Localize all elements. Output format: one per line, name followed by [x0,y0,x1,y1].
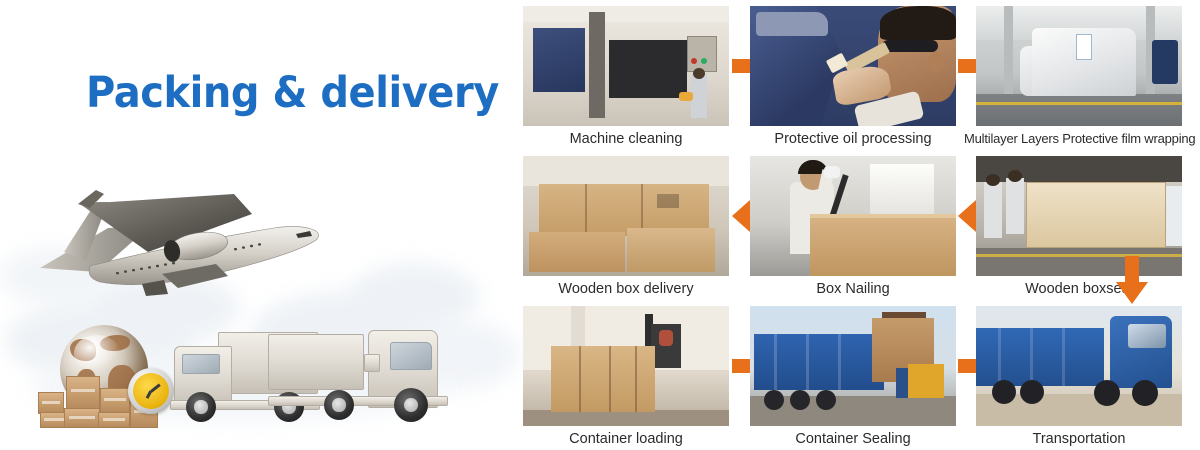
step-caption: Box Nailing [738,278,968,300]
step-caption: Multilayer Layers Protective film wrappi… [964,128,1194,150]
step-caption: Wooden box delivery [511,278,741,300]
photo-machine-cleaning [523,6,729,126]
step-caption: Transportation [964,428,1194,450]
van-wheel [186,392,216,422]
step-caption: Container loading [511,428,741,450]
step-caption: Wooden boxseal [964,278,1194,300]
photo-wooden-box-delivery [523,156,729,276]
left-panel: Packing & delivery [0,0,510,450]
van-windshield [182,354,220,374]
photo-box-nailing [750,156,956,276]
photo-transportation [976,306,1182,426]
truck-side-window [364,354,380,372]
process-row-1: Machine cleaning Protective oil processi… [510,0,1200,150]
arrow-down-icon [1116,256,1148,304]
truck-trailer [268,334,364,390]
process-grid: Machine cleaning Protective oil processi… [510,0,1200,450]
truck-wheel [324,390,354,420]
truck-windshield [390,342,432,370]
step-caption: Protective oil processing [738,128,968,150]
page-title: Packing & delivery [86,68,499,118]
process-row-2: Wooden box delivery Box Nailing [510,150,1200,300]
process-step-transportation[interactable]: Transportation [976,306,1182,426]
airplane-icon [38,168,358,308]
step-caption: Container Sealing [738,428,968,450]
photo-container-loading [523,306,729,426]
process-step-container-loading[interactable]: Container loading [523,306,729,426]
step-caption: Machine cleaning [511,128,741,150]
box [98,412,130,428]
box [64,408,100,428]
process-step-wooden-boxseal[interactable]: Wooden boxseal [976,156,1182,276]
process-step-machine-cleaning[interactable]: Machine cleaning [523,6,729,126]
box [66,376,100,410]
process-step-container-sealing[interactable]: Container Sealing [750,306,956,426]
truck-wheel [394,388,428,422]
photo-container-sealing [750,306,956,426]
clock-emblem-icon [128,368,174,414]
process-step-protective-oil-processing[interactable]: Protective oil processing [750,6,956,126]
process-step-film-wrapping[interactable]: Multilayer Layers Protective film wrappi… [976,6,1182,126]
photo-film-wrapping [976,6,1182,126]
photo-wooden-boxseal [976,156,1182,276]
process-step-box-nailing[interactable]: Box Nailing [750,156,956,276]
globe-highlight [74,335,120,371]
semi-truck-icon [268,330,453,428]
packing-delivery-banner: Packing & delivery [0,0,1200,450]
process-row-3: Container loading Container Sealing [510,300,1200,450]
photo-protective-oil-processing [750,6,956,126]
process-step-wooden-box-delivery[interactable]: Wooden box delivery [523,156,729,276]
box [38,392,64,414]
box [100,388,130,414]
